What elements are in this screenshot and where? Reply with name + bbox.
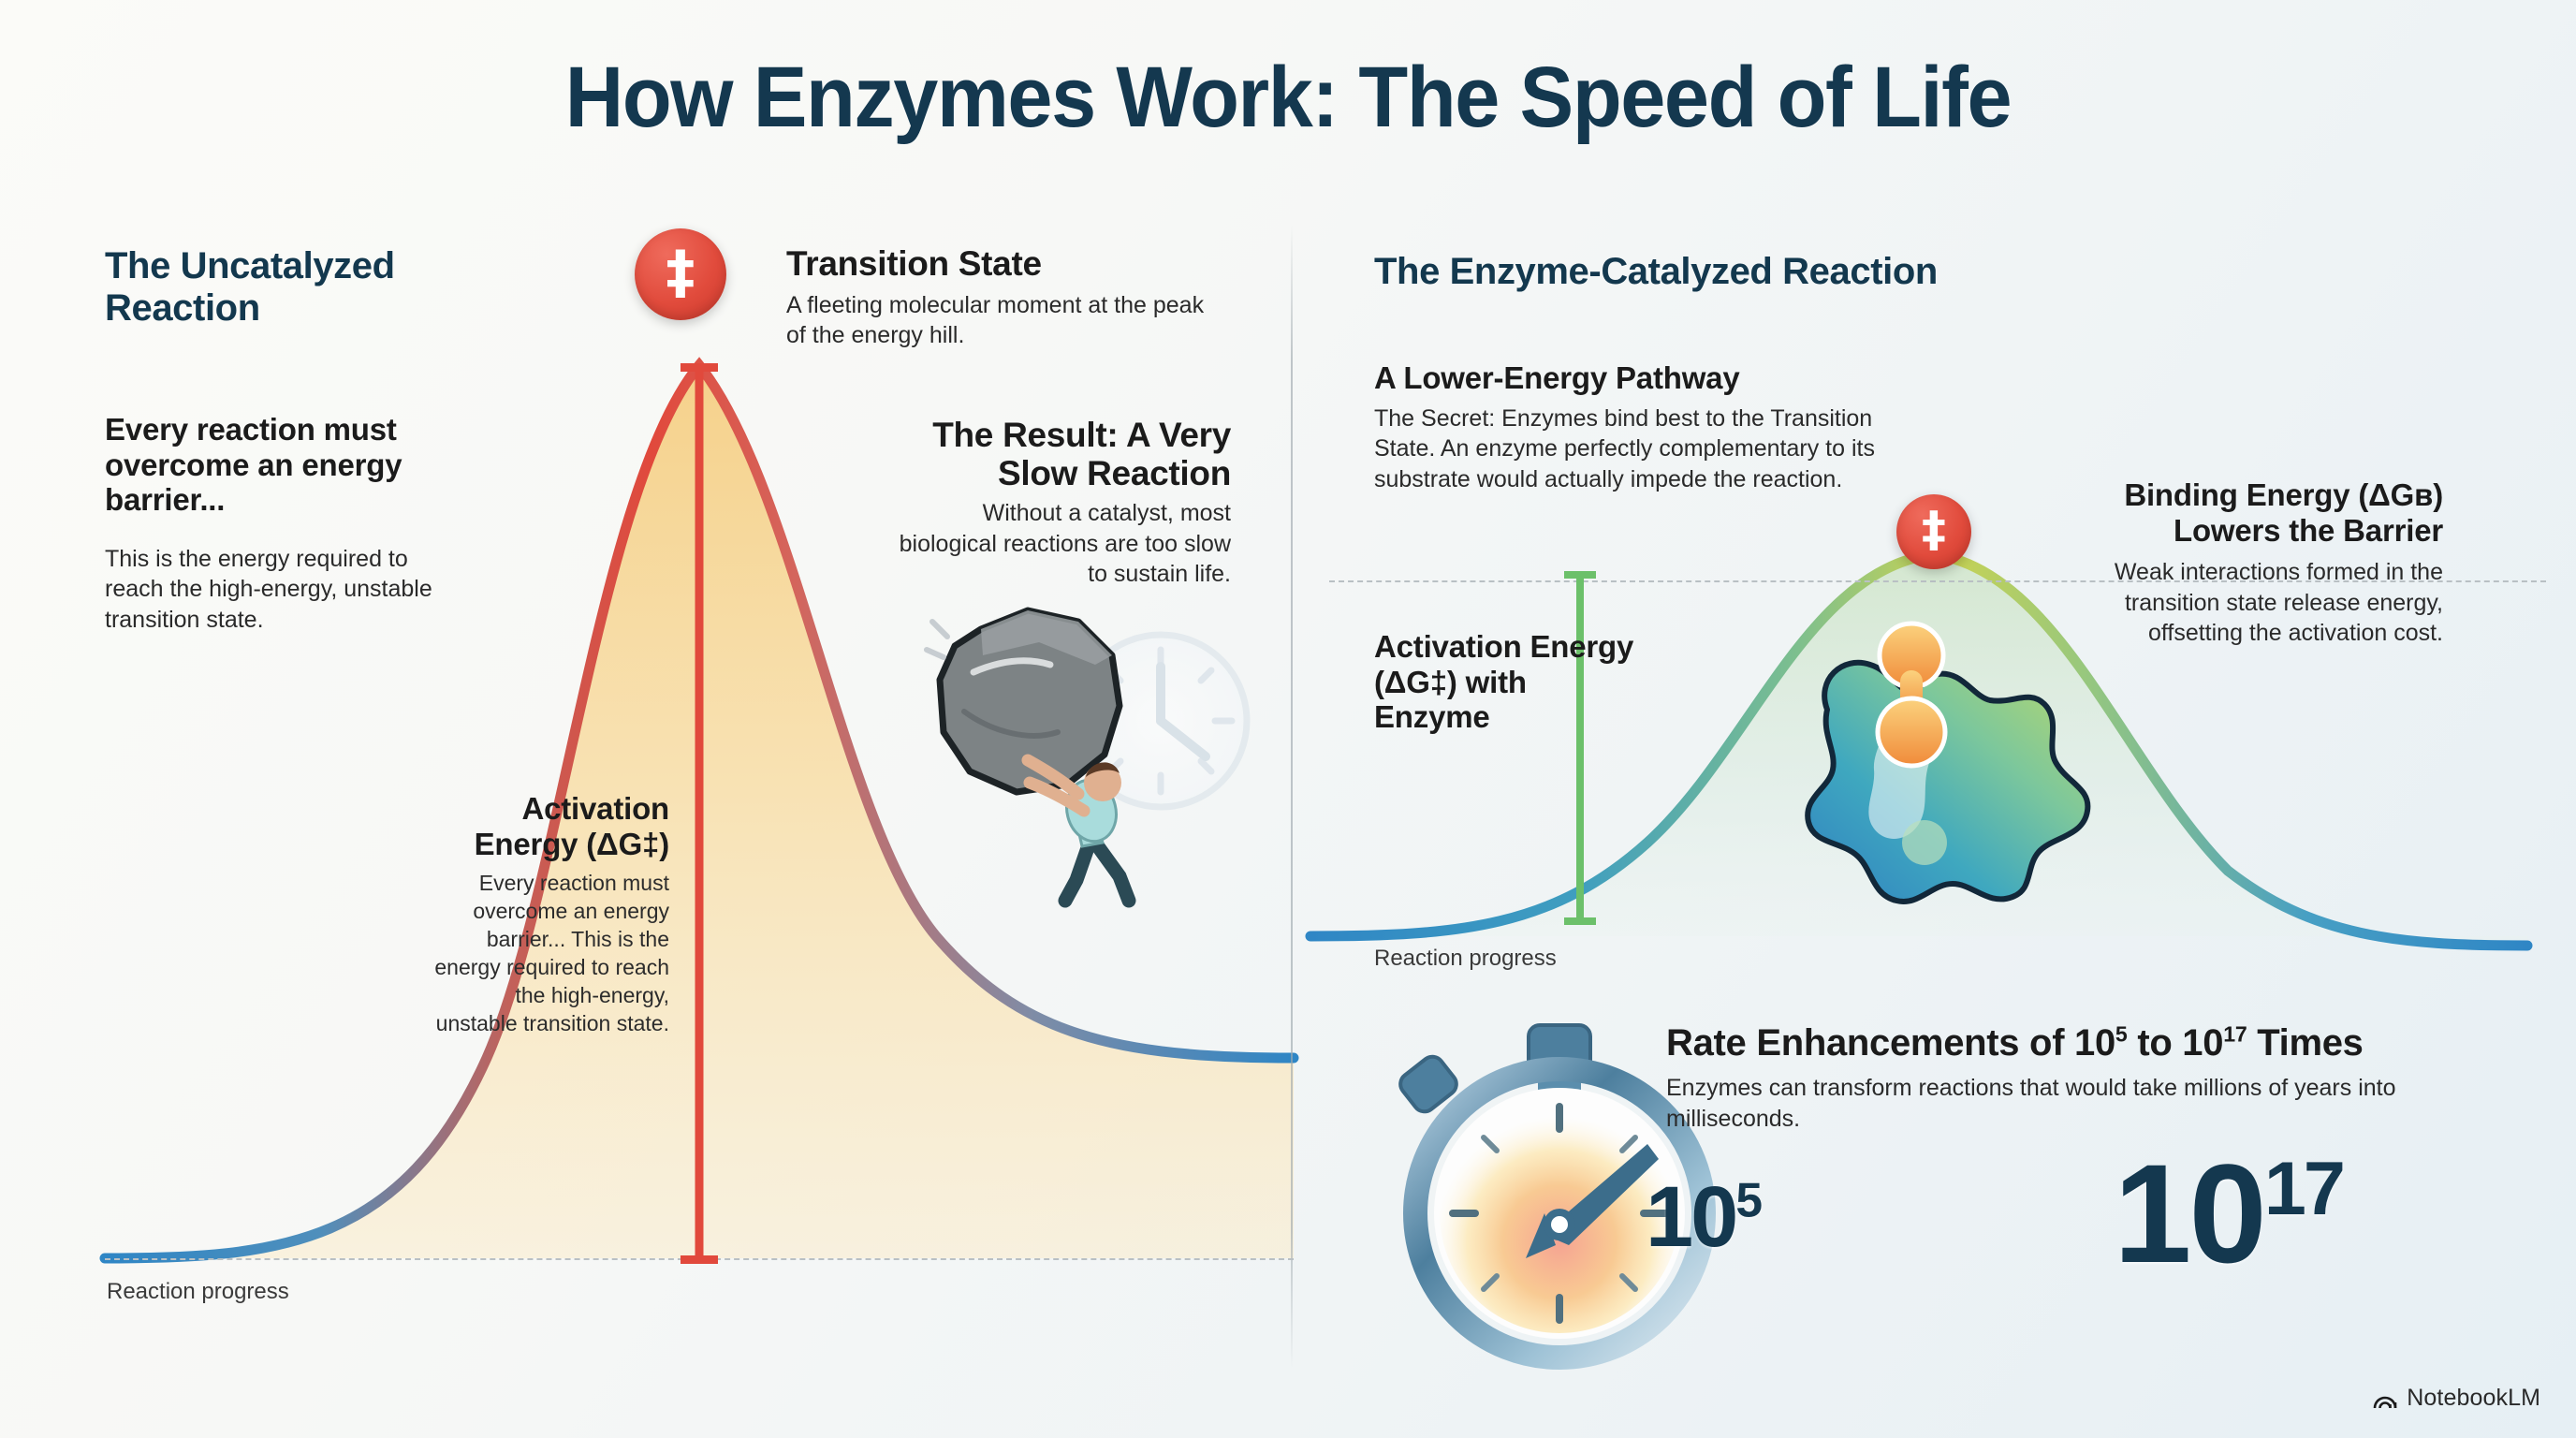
notebooklm-watermark: NotebookLM bbox=[2372, 1385, 2540, 1412]
right-panel-heading: The Enzyme-Catalyzed Reaction bbox=[1374, 251, 2217, 293]
notebooklm-logo-icon bbox=[2372, 1386, 2398, 1412]
right-panel-heading-group: The Enzyme-Catalyzed Reaction bbox=[1374, 251, 2217, 293]
panel-divider bbox=[1291, 225, 1293, 1369]
stat-small-exp: 5 bbox=[1735, 1172, 1760, 1226]
boulder-illustration bbox=[927, 610, 1120, 792]
rate-heading-mid: to 10 bbox=[2128, 1022, 2224, 1064]
axis-label-left: Reaction progress bbox=[107, 1279, 289, 1305]
double-dagger-icon: ‡ bbox=[666, 243, 695, 301]
binding-energy-block: Binding Energy (ΔGʙ) Lowers the Barrier … bbox=[2050, 477, 2443, 649]
slow-reaction-block: The Result: A Very Slow Reaction Without… bbox=[889, 417, 1231, 590]
activation-energy-enzyme-heading: Activation Energy (ΔG‡) with Enzyme bbox=[1374, 629, 1646, 735]
bar-cap-top bbox=[681, 363, 718, 372]
energy-barrier-body: This is the energy required to reach the… bbox=[105, 544, 451, 636]
transition-state-badge-right: ‡ bbox=[1896, 494, 1971, 569]
binding-energy-body: Weak interactions formed in the transiti… bbox=[2050, 557, 2443, 649]
rate-heading-exp2: 17 bbox=[2223, 1022, 2247, 1047]
rate-enhancement-body: Enzymes can transform reactions that wou… bbox=[1666, 1073, 2424, 1134]
activation-energy-bar-uncatalyzed bbox=[681, 363, 718, 1264]
bar-cap-bottom bbox=[681, 1255, 718, 1264]
stat-10-to-17: 1017 bbox=[2114, 1133, 2343, 1295]
energy-barrier-heading: Every reaction must overcome an energy b… bbox=[105, 412, 451, 518]
bar-cap-bottom bbox=[1564, 917, 1596, 925]
slow-reaction-heading: The Result: A Very Slow Reaction bbox=[889, 417, 1231, 492]
transition-state-body: A fleeting molecular moment at the peak … bbox=[786, 290, 1207, 351]
slow-reaction-body: Without a catalyst, most biological reac… bbox=[889, 498, 1231, 590]
rate-heading-post: Times bbox=[2247, 1022, 2363, 1064]
stat-large-base: 10 bbox=[2114, 1135, 2264, 1292]
activation-energy-block: Activation Energy (ΔG‡) Every reaction m… bbox=[431, 791, 669, 1038]
binding-energy-heading: Binding Energy (ΔGʙ) Lowers the Barrier bbox=[2050, 477, 2443, 548]
activation-energy-heading: Activation Energy (ΔG‡) bbox=[431, 791, 669, 861]
bar-cap-top bbox=[1564, 571, 1596, 579]
rate-enhancement-block: Rate Enhancements of 105 to 1017 Times E… bbox=[1666, 1022, 2424, 1134]
double-dagger-icon: ‡ bbox=[1922, 506, 1946, 554]
rate-heading-exp1: 5 bbox=[2115, 1022, 2128, 1047]
activation-energy-body: Every reaction must overcome an energy b… bbox=[431, 870, 669, 1037]
energy-barrier-block: Every reaction must overcome an energy b… bbox=[105, 412, 451, 635]
lower-energy-pathway-block: A Lower-Energy Pathway The Secret: Enzym… bbox=[1374, 360, 1898, 494]
lower-energy-body: The Secret: Enzymes bind best to the Tra… bbox=[1374, 404, 1898, 495]
stat-10-to-5: 105 bbox=[1646, 1168, 1760, 1267]
activation-energy-bar-catalyzed bbox=[1564, 571, 1596, 925]
transition-state-heading: Transition State bbox=[786, 245, 1207, 284]
axis-label-right: Reaction progress bbox=[1374, 946, 1557, 972]
notebooklm-label: NotebookLM bbox=[2407, 1385, 2540, 1412]
stat-large-exp: 17 bbox=[2264, 1147, 2343, 1231]
transition-state-badge-left: ‡ bbox=[635, 228, 726, 320]
bar-stem bbox=[1576, 571, 1584, 925]
left-panel-heading-group: The Uncatalyzed Reaction bbox=[105, 245, 507, 330]
rate-enhancement-heading: Rate Enhancements of 105 to 1017 Times bbox=[1666, 1022, 2424, 1064]
transition-state-block: Transition State A fleeting molecular mo… bbox=[786, 245, 1207, 351]
rate-heading-pre: Rate Enhancements of 10 bbox=[1666, 1022, 2115, 1064]
activation-energy-enzyme-block: Activation Energy (ΔG‡) with Enzyme bbox=[1374, 629, 1646, 735]
left-panel-heading: The Uncatalyzed Reaction bbox=[105, 245, 507, 330]
bar-stem bbox=[695, 363, 704, 1264]
lower-energy-heading: A Lower-Energy Pathway bbox=[1374, 360, 1898, 396]
infographic-canvas: How Enzymes Work: The Speed of Life bbox=[0, 0, 2576, 1438]
stat-small-base: 10 bbox=[1646, 1169, 1735, 1265]
